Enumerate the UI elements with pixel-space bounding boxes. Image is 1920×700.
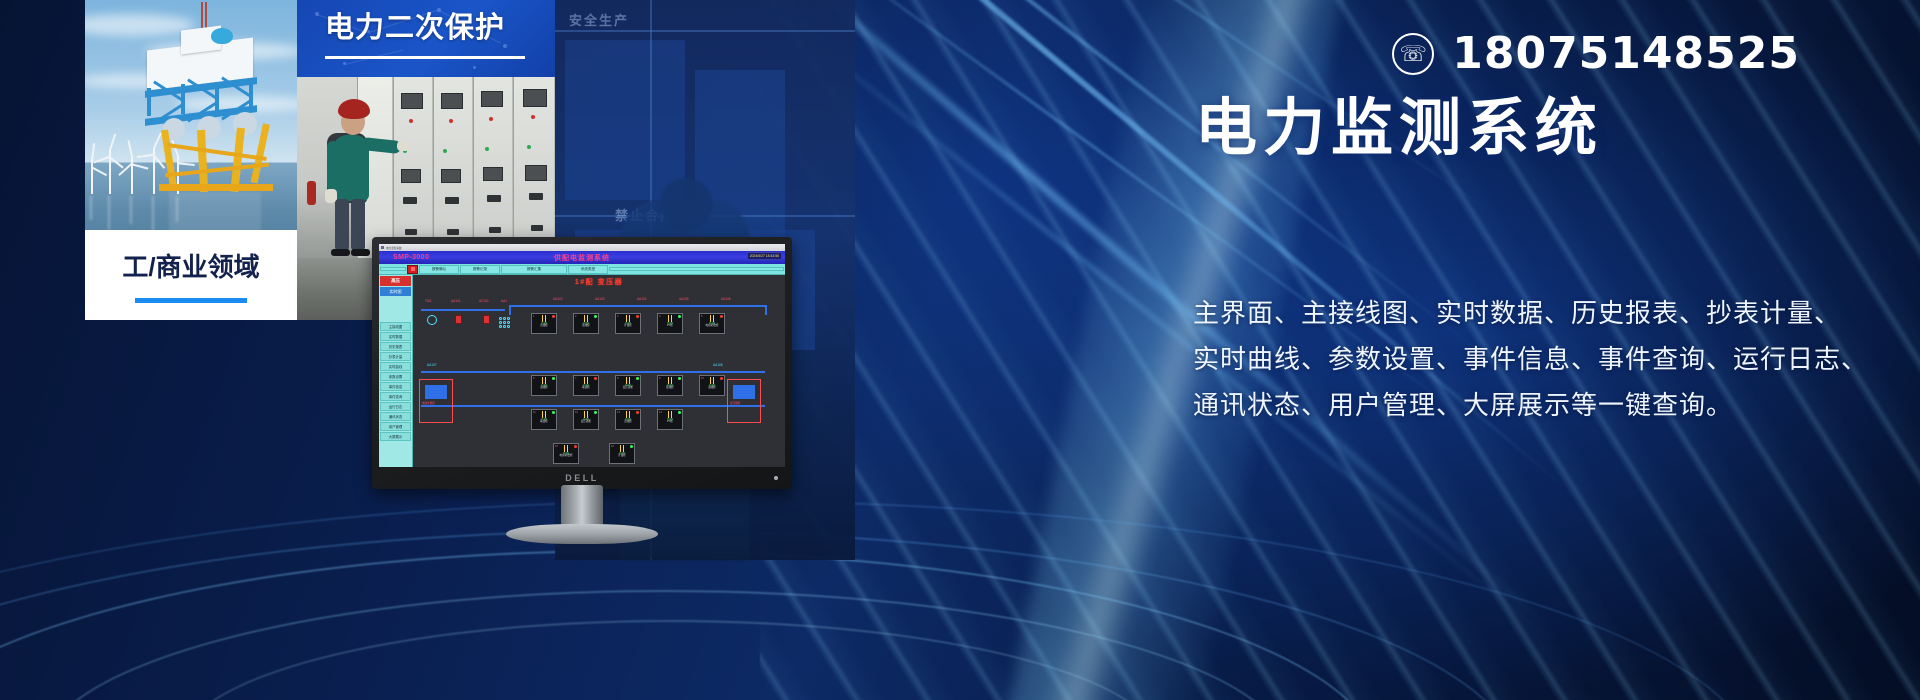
cell-number: 6 xyxy=(533,377,534,380)
device-tag: AA101 xyxy=(451,299,461,303)
feature-line-1: 主界面、主接线图、实时数据、历史报表、抄表计量、 xyxy=(1193,290,1868,336)
cell-number: 5 xyxy=(701,315,702,318)
device-tag: AA107 xyxy=(427,363,437,367)
window-titlebar: 电力监控系统 xyxy=(379,244,785,251)
sidebar-item-main-diagram[interactable]: 主接线图 xyxy=(380,322,411,331)
switchgear-cell[interactable]: 11 0.00 联络柜 xyxy=(531,409,557,430)
power-led-icon[interactable] xyxy=(774,476,778,480)
switchgear-cell[interactable]: 12 0.00 变压器柜 xyxy=(573,409,599,430)
cell-label: 进线柜 xyxy=(540,387,548,390)
contact-phone[interactable]: ☏ 18075148525 xyxy=(1392,28,1800,79)
cell-number: 3 xyxy=(617,315,618,318)
cell-label: PT柜 xyxy=(667,325,673,328)
badge-industrial-commercial: 工/商业领域 xyxy=(85,230,297,320)
sidebar-item-history-report[interactable]: 历史报表 xyxy=(380,342,411,351)
monitor-bezel: 电力监控系统 SMP-3000 供配电监测系统 报警确认 报警记录 报警汇集 系… xyxy=(372,237,792,489)
feature-line-3: 通讯状态、用户管理、大屏展示等一键查询。 xyxy=(1193,382,1868,428)
cell-label: 电容补偿柜 xyxy=(560,455,573,458)
cell-label: 出线柜 xyxy=(624,421,632,424)
cell-number: 12 xyxy=(575,411,578,414)
cell-label: 出线柜 xyxy=(540,325,548,328)
app-header: SMP-3000 供配电监测系统 xyxy=(379,251,785,264)
switchgear-cell[interactable]: 13 0.00 出线柜 xyxy=(615,409,641,430)
app-body: 高压 实时图 主接线图 实时数据 历史报表 抄表计量 实时曲线 参数设置 事件信… xyxy=(379,275,785,467)
cell-label: 变压器柜 xyxy=(581,421,591,424)
toolbar-alarm-log[interactable]: 报警记录 xyxy=(460,265,500,274)
cell-label: 变压器柜 xyxy=(623,387,633,390)
status-indicator xyxy=(678,411,681,414)
device-tag: AA106 xyxy=(721,297,731,301)
cell-label: 馈线柜 xyxy=(666,387,674,390)
sidebar-item-realtime-curve[interactable]: 实时曲线 xyxy=(380,362,411,371)
sidebar-item-event-query[interactable]: 事件查询 xyxy=(380,392,411,401)
breaker-symbol xyxy=(455,315,462,324)
toolbar-alarm-ack[interactable]: 报警确认 xyxy=(419,265,459,274)
cell-label: 计量柜 xyxy=(618,455,626,458)
switchgear-cell[interactable]: 10 0.00 进线柜 xyxy=(699,375,725,396)
cell-number: 4 xyxy=(659,315,660,318)
phone-icon: ☏ xyxy=(1392,33,1434,75)
right-panel-device xyxy=(733,385,755,399)
power-monitoring-banner: 安全生产 禁止合闸 xyxy=(0,0,1920,700)
cell-number: 13 xyxy=(617,411,620,414)
cell-label: 计量柜 xyxy=(624,325,632,328)
switchgear-cell[interactable]: 7 0.00 联络柜 xyxy=(573,375,599,396)
sidebar-item-comm-status[interactable]: 通讯状态 xyxy=(380,412,411,421)
cell-label: PT柜 xyxy=(667,421,673,424)
feature-line-2: 实时曲线、参数设置、事件信息、事件查询、运行日志、 xyxy=(1193,336,1868,382)
status-indicator xyxy=(636,315,639,318)
toolbar-system-type[interactable]: 系统类型 xyxy=(568,265,608,274)
status-indicator xyxy=(720,377,723,380)
device-tag: AA102 xyxy=(553,297,563,301)
sidebar-item-realtime-data[interactable]: 实时数据 xyxy=(380,332,411,341)
switchgear-cell[interactable]: 2 0.00 馈线柜 xyxy=(573,313,599,334)
monitor-stand-base xyxy=(506,524,658,544)
background-person-head xyxy=(660,178,712,230)
left-panel-device xyxy=(425,385,447,399)
cell-label: 联络柜 xyxy=(540,421,548,424)
sidebar-header-hv: 高压 xyxy=(380,276,411,286)
badge-white-underline xyxy=(135,298,247,303)
transformer-symbol xyxy=(427,315,437,325)
scada-application-screen: 电力监控系统 SMP-3000 供配电监测系统 报警确认 报警记录 报警汇集 系… xyxy=(379,244,785,467)
status-indicator xyxy=(720,315,723,318)
status-indicator xyxy=(594,315,597,318)
sidebar-subheader[interactable]: 实时图 xyxy=(380,287,411,296)
device-tag: TM1 xyxy=(425,299,431,303)
left-panel-label: 电容补偿柜 xyxy=(422,401,435,405)
status-indicator xyxy=(678,315,681,318)
page-title: 电力监测系统 xyxy=(1195,98,1603,160)
device-tag: AA103 xyxy=(595,297,605,301)
toolbar-filler xyxy=(609,267,784,271)
breaker-symbol xyxy=(483,315,490,324)
status-indicator xyxy=(594,411,597,414)
device-tag: AA105 xyxy=(679,297,689,301)
app-title: 供配电监测系统 xyxy=(554,253,610,263)
clock-display: 2024/6/27 18:43:56 xyxy=(747,252,782,260)
cell-number: 9 xyxy=(659,377,660,380)
sidebar-item-parameters[interactable]: 参数设置 xyxy=(380,372,411,381)
rec-button[interactable] xyxy=(407,265,418,274)
phone-number: 18075148525 xyxy=(1452,28,1800,79)
window-icon xyxy=(381,246,384,249)
cell-number: 10 xyxy=(701,377,704,380)
badge-power-secondary-protection: 电力二次保护 xyxy=(297,0,555,77)
sidebar-item-big-screen[interactable]: 大屏展示 xyxy=(380,432,411,441)
toolbar-alarm-summary[interactable]: 报警汇集 xyxy=(501,265,567,274)
cell-label: 进线柜 xyxy=(708,387,716,390)
cell-label: 联络柜 xyxy=(582,387,590,390)
sidebar-item-run-log[interactable]: 运行日志 xyxy=(380,402,411,411)
cell-number: 2 xyxy=(575,315,576,318)
cell-number: 8 xyxy=(617,377,618,380)
diagram-title: 1#配 变压器 xyxy=(575,277,623,287)
feature-list: 主界面、主接线图、实时数据、历史报表、抄表计量、 实时曲线、参数设置、事件信息、… xyxy=(1193,290,1868,428)
switchgear-cell[interactable]: 3 0.00 计量柜 xyxy=(615,313,641,334)
sidebar-item-user-mgmt[interactable]: 用户管理 xyxy=(380,422,411,431)
app-sidebar[interactable]: 高压 实时图 主接线图 实时数据 历史报表 抄表计量 实时曲线 参数设置 事件信… xyxy=(379,275,413,467)
right-panel-label: 变压器柜 xyxy=(730,401,740,405)
status-indicator xyxy=(552,377,555,380)
switchgear-cell[interactable]: 5 0.00 电容补偿柜 xyxy=(699,313,725,334)
cell-number: 1 xyxy=(533,315,534,318)
monitor: 电力监控系统 SMP-3000 供配电监测系统 报警确认 报警记录 报警汇集 系… xyxy=(372,237,792,547)
switchgear-cell[interactable]: 6 0.00 进线柜 xyxy=(531,375,557,396)
dell-logo: DELL xyxy=(565,473,599,483)
app-logo: SMP-3000 xyxy=(393,254,429,261)
toolbar-spacer xyxy=(380,267,406,271)
switchgear-cell[interactable]: 14 0.00 PT柜 xyxy=(657,409,683,430)
capacitor-bank-symbol xyxy=(499,317,510,328)
switchgear-cell[interactable]: 1 0.00 出线柜 xyxy=(531,313,557,334)
status-indicator xyxy=(636,411,639,414)
status-indicator xyxy=(552,411,555,414)
cell-number: 16 xyxy=(611,445,614,448)
cell-number: 7 xyxy=(575,377,576,380)
badge-blue-underline xyxy=(325,56,525,59)
cell-number: 15 xyxy=(555,445,558,448)
device-tag: AA108 xyxy=(713,363,723,367)
app-toolbar[interactable]: 报警确认 报警记录 报警汇集 系统类型 2024/6/27 18:43:56 xyxy=(379,264,785,275)
status-indicator xyxy=(552,315,555,318)
cell-number: 11 xyxy=(533,411,536,414)
status-indicator xyxy=(678,377,681,380)
right-text-column: ☏ 18075148525 电力监测系统 主界面、主接线图、实时数据、历史报表、… xyxy=(1080,0,1860,700)
cell-label: 馈线柜 xyxy=(582,325,590,328)
single-line-diagram[interactable]: 1#配 变压器 TM1 AA101 AC101 AA1 AA102 xyxy=(413,275,785,467)
cell-label: 电容补偿柜 xyxy=(706,325,719,328)
status-indicator xyxy=(636,377,639,380)
sidebar-item-event-info[interactable]: 事件信息 xyxy=(380,382,411,391)
device-tag: AA1 xyxy=(501,299,507,303)
switchgear-cell[interactable]: 4 0.00 PT柜 xyxy=(657,313,683,334)
badge-white-label: 工/商业领域 xyxy=(85,254,297,280)
status-indicator xyxy=(630,445,633,448)
status-indicator xyxy=(594,377,597,380)
switchgear-cell[interactable]: 15 0.00 电容补偿柜 xyxy=(553,443,579,464)
sidebar-item-meter-reading[interactable]: 抄表计量 xyxy=(380,352,411,361)
window-title: 电力监控系统 xyxy=(386,246,402,250)
switchgear-cell[interactable]: 9 0.00 馈线柜 xyxy=(657,375,683,396)
switchgear-cell[interactable]: 16 0.00 计量柜 xyxy=(609,443,635,464)
device-tag: AA104 xyxy=(637,297,647,301)
switchgear-cell[interactable]: 8 0.00 变压器柜 xyxy=(615,375,641,396)
cell-number: 14 xyxy=(659,411,662,414)
status-indicator xyxy=(574,445,577,448)
device-tag: AC101 xyxy=(479,299,489,303)
badge-blue-label: 电力二次保护 xyxy=(325,14,505,43)
